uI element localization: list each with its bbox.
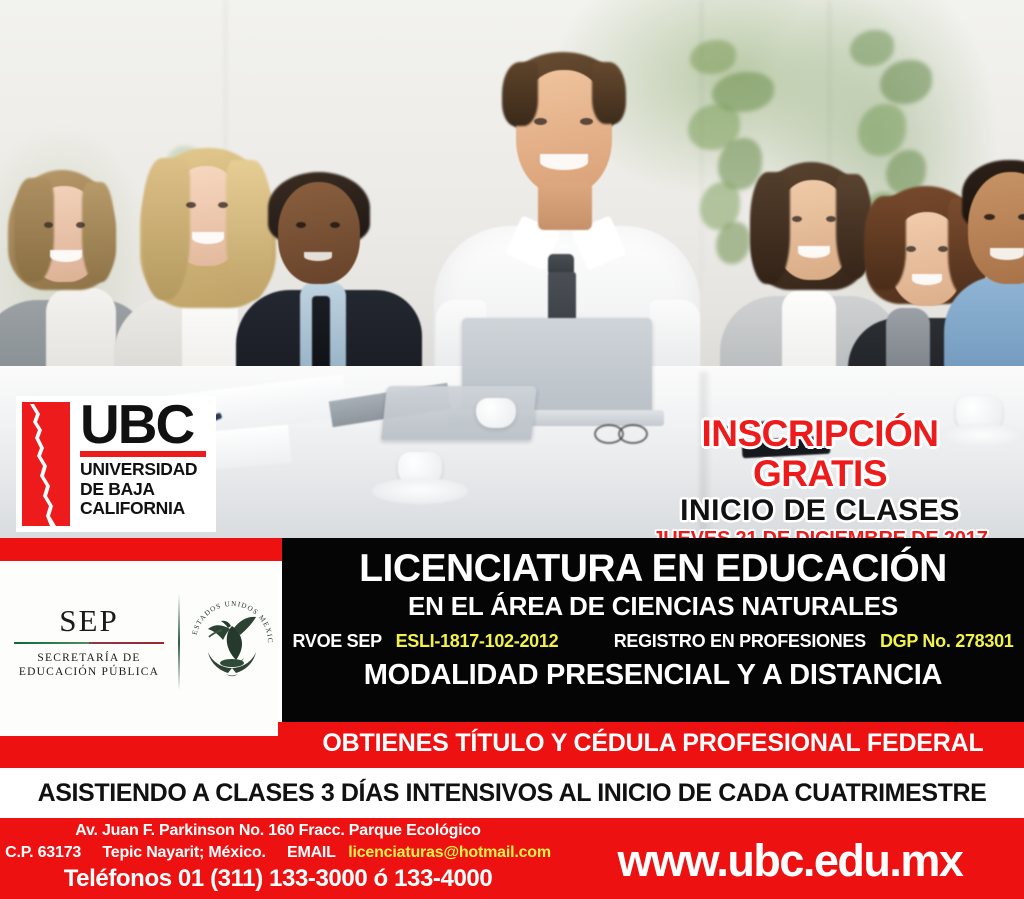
program-registrations: RVOE SEP ESLI-1817-102-2012 REGISTRO EN … [282, 630, 1024, 652]
city: Tepic Nayarit; México. [102, 844, 265, 861]
sep-subtitle-line2: EDUCACIÓN PÚBLICA [6, 665, 172, 679]
promo-fecha-inicio: JUEVES 21 DE DICIEMBRE DE 2017 [630, 527, 1010, 538]
ubc-name-line3: CALIFORNIA [80, 499, 216, 519]
sep-accent-rules [14, 642, 164, 645]
website-url[interactable]: www.ubc.edu.mx [556, 836, 1024, 886]
escudo-nacional-mexicano-icon: ESTADOS UNIDOS MEXICANOS [186, 596, 278, 688]
degree-banner-text: OBTIENES TÍTULO Y CÉDULA PROFESIONAL FED… [282, 728, 1024, 758]
sep-logo-panel: SEP SECRETARÍA DE EDUCACIÓN PÚBLICA ESTA… [0, 561, 278, 722]
ubc-acronym: UBC [80, 398, 216, 450]
baja-california-peninsula-icon [16, 396, 78, 532]
attendance-banner-text: ASISTIENDO A CLASES 3 DÍAS INTENSIVOS AL… [38, 779, 987, 807]
contact-footer: Av. Juan F. Parkinson No. 160 Fracc. Par… [0, 818, 1024, 899]
promo-inscripcion-gratis: INSCRIPCIÓN GRATIS [630, 414, 1010, 494]
sep-subtitle-line1: SECRETARÍA DE [6, 651, 172, 665]
contact-details: Av. Juan F. Parkinson No. 160 Fracc. Par… [0, 820, 556, 894]
program-title: LICENCIATURA EN EDUCACIÓN [282, 548, 1024, 590]
program-info-panel: LICENCIATURA EN EDUCACIÓN EN EL ÁREA DE … [282, 538, 1024, 722]
sep-panel-bottom-extension [0, 722, 278, 736]
rvoe-label: RVOE SEP [292, 631, 381, 651]
rvoe-value: ESLI-1817-102-2012 [396, 631, 559, 651]
promo-inicio-de-clases: INICIO DE CLASES [630, 494, 1010, 527]
sep-acronym: SEP [6, 605, 172, 637]
program-subtitle: EN EL ÁREA DE CIENCIAS NATURALES [282, 591, 1024, 621]
degree-banner: OBTIENES TÍTULO Y CÉDULA PROFESIONAL FED… [0, 722, 1024, 768]
email-label: EMAIL [287, 844, 336, 861]
hero-photo: UBC UNIVERSIDAD DE BAJA CALIFORNIA INSCR… [0, 0, 1024, 538]
ubc-name-line1: UNIVERSIDAD [80, 460, 216, 480]
red-strip-above-sep [0, 538, 282, 561]
registry-value: DGP No. 278301 [880, 631, 1014, 651]
sep-divider [178, 594, 180, 690]
email-address[interactable]: licenciaturas@hotmail.com [348, 844, 551, 861]
address-line: Av. Juan F. Parkinson No. 160 Fracc. Par… [0, 820, 556, 842]
locality-and-email: C.P. 63173 Tepic Nayarit; México. EMAIL … [0, 842, 556, 864]
promo-callout: INSCRIPCIÓN GRATIS INICIO DE CLASES JUEV… [630, 414, 1010, 538]
ubc-logo: UBC UNIVERSIDAD DE BAJA CALIFORNIA [16, 396, 216, 532]
postal-code: C.P. 63173 [5, 844, 81, 861]
phone-numbers[interactable]: Teléfonos 01 (311) 133-3000 ó 133-4000 [0, 864, 556, 894]
program-modality: MODALIDAD PRESENCIAL Y A DISTANCIA [282, 658, 1024, 692]
ubc-name-line2: DE BAJA [80, 480, 216, 500]
registry-label: REGISTRO EN PROFESIONES [614, 631, 866, 651]
poster-root: UBC UNIVERSIDAD DE BAJA CALIFORNIA INSCR… [0, 0, 1024, 899]
attendance-banner: ASISTIENDO A CLASES 3 DÍAS INTENSIVOS AL… [0, 768, 1024, 818]
